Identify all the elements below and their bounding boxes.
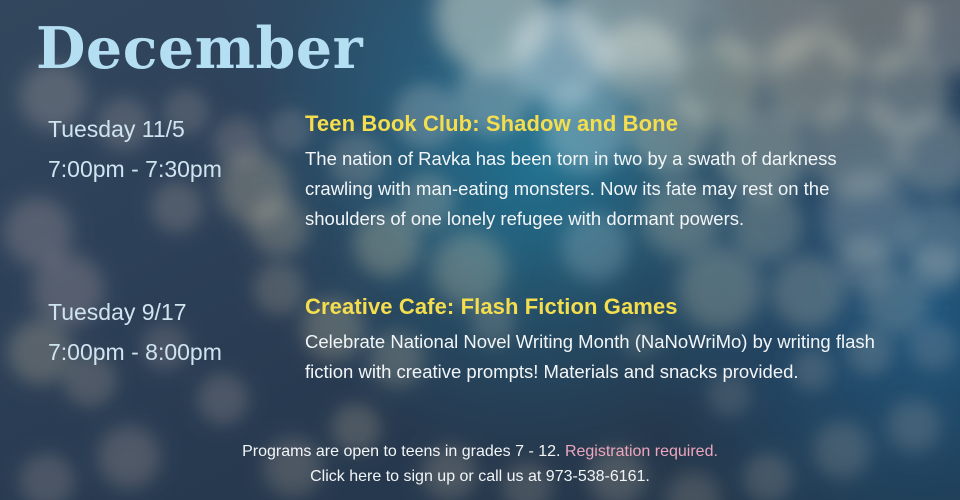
page-title: December bbox=[36, 18, 363, 80]
flyer-content: December Tuesday 11/5 7:00pm - 7:30pm Te… bbox=[0, 0, 960, 500]
event-time: 7:00pm - 7:30pm bbox=[48, 150, 298, 190]
event-schedule: Tuesday 11/5 7:00pm - 7:30pm bbox=[48, 110, 298, 189]
december-events-flyer: December Tuesday 11/5 7:00pm - 7:30pm Te… bbox=[0, 0, 960, 500]
event-date: Tuesday 9/17 bbox=[48, 293, 298, 333]
footer-line-1: Programs are open to teens in grades 7 -… bbox=[0, 440, 960, 465]
event-schedule: Tuesday 9/17 7:00pm - 8:00pm bbox=[48, 293, 298, 372]
event-description: Celebrate National Novel Writing Month (… bbox=[305, 327, 895, 387]
event-details: Creative Cafe: Flash Fiction Games Celeb… bbox=[305, 293, 895, 387]
event-details: Teen Book Club: Shadow and Bone The nati… bbox=[305, 110, 895, 234]
event-date: Tuesday 11/5 bbox=[48, 110, 298, 150]
event-description: The nation of Ravka has been torn in two… bbox=[305, 144, 895, 234]
footer-eligibility-text: Programs are open to teens in grades 7 -… bbox=[242, 443, 565, 460]
registration-required-text: Registration required. bbox=[565, 443, 718, 460]
event-title: Creative Cafe: Flash Fiction Games bbox=[305, 293, 895, 322]
footer-note: Programs are open to teens in grades 7 -… bbox=[0, 440, 960, 490]
event-title: Teen Book Club: Shadow and Bone bbox=[305, 110, 895, 139]
event-time: 7:00pm - 8:00pm bbox=[48, 333, 298, 373]
footer-signup-line[interactable]: Click here to sign up or call us at 973-… bbox=[0, 465, 960, 490]
